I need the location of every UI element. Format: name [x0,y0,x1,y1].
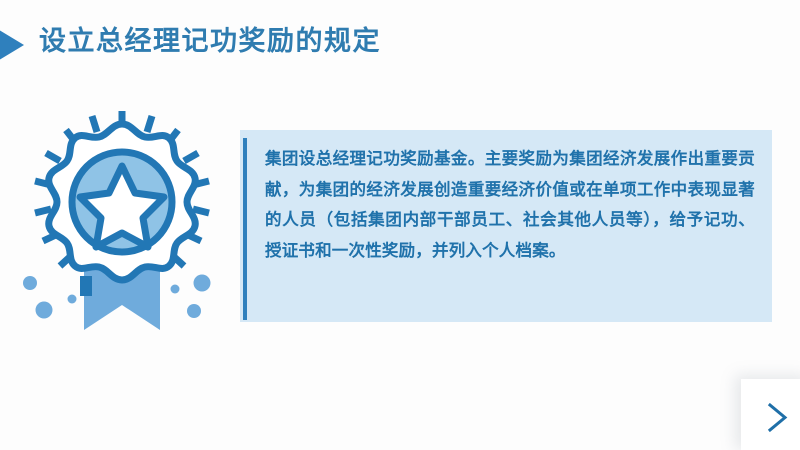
triangle-right-icon [0,22,24,68]
slide-header: 设立总经理记功奖励的规定 [0,18,800,74]
content-panel: 集团设总经理记功奖励基金。主要奖励为集团经济发展作出重要贡献，为集团的经济发展创… [240,130,772,322]
page-title: 设立总经理记功奖励的规定 [39,18,381,64]
slide-canvas: 设立总经理记功奖励的规定 [0,0,800,450]
next-slide-button[interactable] [741,379,800,450]
award-medal-star-icon [22,108,222,333]
panel-accent-bar [243,138,247,320]
chevron-right-icon [741,379,800,450]
panel-body-text: 集团设总经理记功奖励基金。主要奖励为集团经济发展作出重要贡献，为集团的经济发展创… [265,144,755,266]
